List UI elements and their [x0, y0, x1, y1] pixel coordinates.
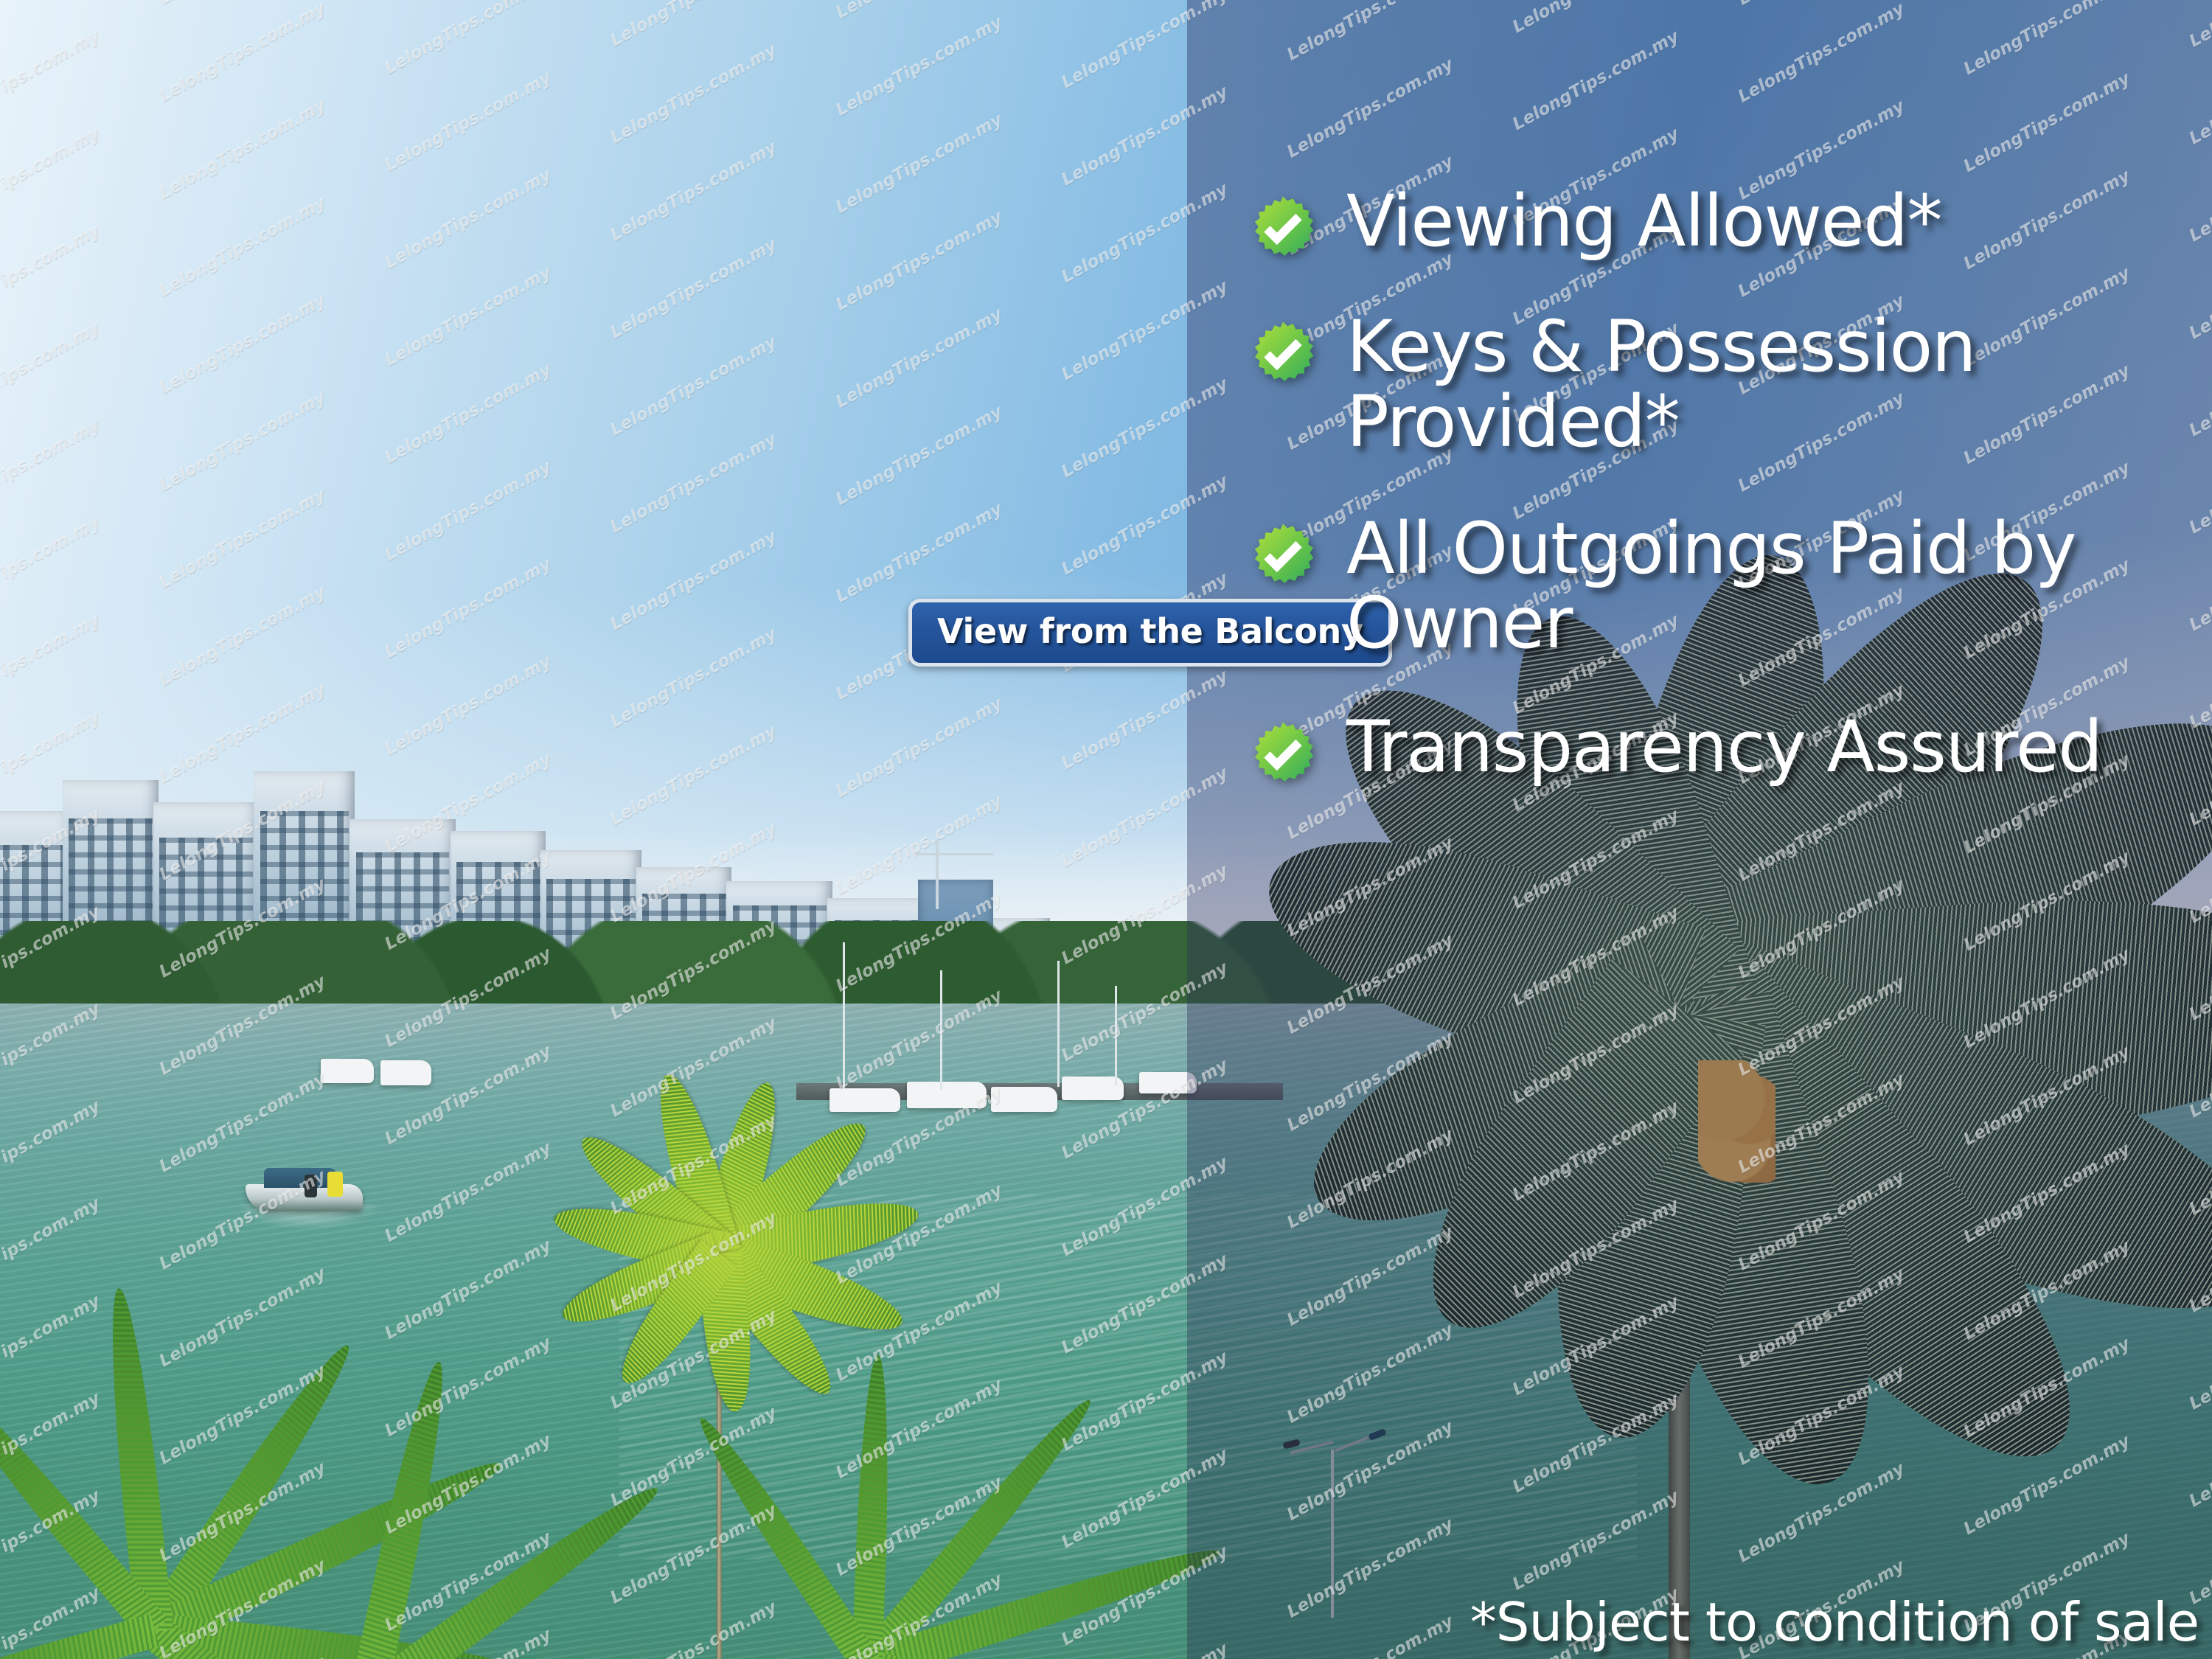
fern-leaf — [0, 1614, 159, 1659]
check-badge-icon — [1246, 320, 1320, 394]
street-lamp — [1279, 1435, 1389, 1618]
check-badge-icon — [1246, 195, 1320, 268]
feature-label: Viewing Allowed* — [1346, 184, 1941, 260]
feature-item: Keys & Possession Provided* — [1246, 310, 2201, 460]
feature-list: Viewing Allowed* Keys & Possession P — [1246, 184, 2201, 835]
feature-label: Transparency Assured — [1346, 710, 2102, 785]
sailboat-mast — [843, 942, 845, 1088]
crane-mast — [936, 840, 939, 910]
boat-passenger — [305, 1175, 317, 1197]
boat-canopy — [264, 1168, 337, 1188]
lamp-head — [1282, 1439, 1300, 1449]
moored-boat — [321, 1059, 374, 1084]
feature-item: Viewing Allowed* — [1246, 184, 2201, 268]
coconut-cluster — [1698, 1060, 1776, 1183]
check-badge-icon — [1246, 522, 1320, 596]
moored-boat — [1139, 1072, 1197, 1093]
feature-label: All Outgoings Paid by Owner — [1346, 512, 2201, 662]
sailboat-mast — [940, 970, 942, 1090]
crane-jib — [914, 853, 993, 855]
boat-passenger — [327, 1172, 343, 1197]
feature-label: Keys & Possession Provided* — [1346, 310, 2201, 460]
sailboat-mast — [1057, 961, 1060, 1087]
footnote-disclaimer: *Subject to condition of sale — [1470, 1596, 2199, 1649]
lamp-pole — [1331, 1450, 1334, 1618]
banner-stage: LelongTips.com.myLelongTips.com.myLelong… — [0, 0, 2212, 1659]
feature-item: Transparency Assured — [1246, 710, 2201, 794]
motorboat — [246, 1168, 363, 1211]
feature-item: All Outgoings Paid by Owner — [1246, 512, 2201, 662]
moored-boat — [380, 1060, 431, 1085]
moored-boat — [991, 1087, 1057, 1112]
check-badge-icon — [1246, 720, 1320, 794]
foreground-foliage — [0, 1411, 619, 1659]
sailboat-mast — [1115, 986, 1117, 1085]
foreground-foliage — [619, 1510, 1239, 1659]
